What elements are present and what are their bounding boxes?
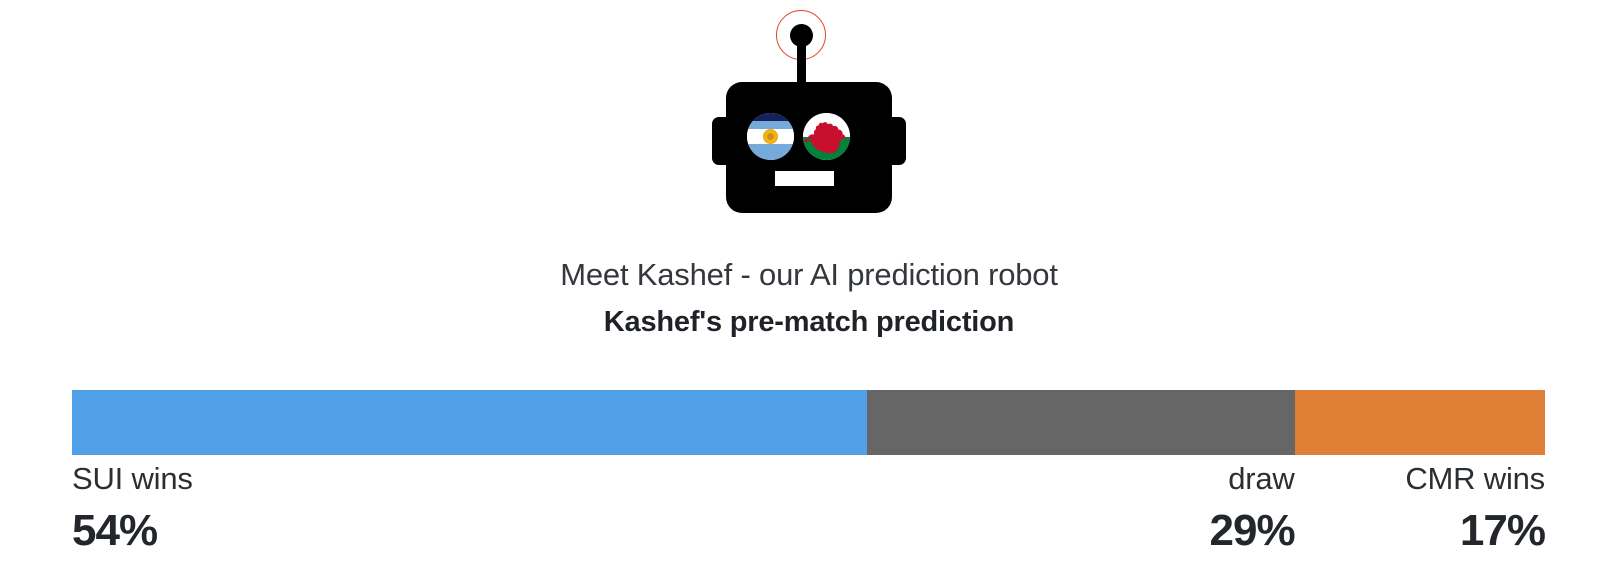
legend-label-draw: draw (1210, 455, 1295, 503)
prediction-stacked-bar (72, 390, 1545, 455)
prediction-panel: Meet Kashef - our AI prediction robot Ka… (0, 0, 1618, 580)
bar-segment-away-win (1295, 390, 1545, 455)
legend-label-home-win: SUI wins (72, 455, 193, 503)
legend-label-away-win: CMR wins (1405, 455, 1545, 503)
bar-segment-home-win (72, 390, 867, 455)
argentina-flag-icon (747, 113, 794, 160)
page-title: Kashef's pre-match prediction (0, 299, 1618, 345)
prediction-robot-icon (0, 0, 1618, 228)
legend-percent-draw: 29% (1210, 503, 1295, 559)
caption-block: Meet Kashef - our AI prediction robot Ka… (0, 252, 1618, 345)
wales-flag-icon (803, 113, 850, 160)
prediction-legend: SUI wins 54% draw 29% CMR wins 17% (72, 455, 1545, 575)
legend-percent-home-win: 54% (72, 503, 193, 559)
bar-segment-draw (867, 390, 1294, 455)
legend-item-draw: draw 29% (1210, 455, 1295, 559)
robot-subtitle: Meet Kashef - our AI prediction robot (0, 252, 1618, 298)
robot-mouth-icon (775, 171, 834, 186)
legend-percent-away-win: 17% (1405, 503, 1545, 559)
legend-item-home-win: SUI wins 54% (72, 455, 193, 559)
legend-item-away-win: CMR wins 17% (1405, 455, 1545, 559)
prediction-bar-area: SUI wins 54% draw 29% CMR wins 17% (72, 390, 1545, 575)
